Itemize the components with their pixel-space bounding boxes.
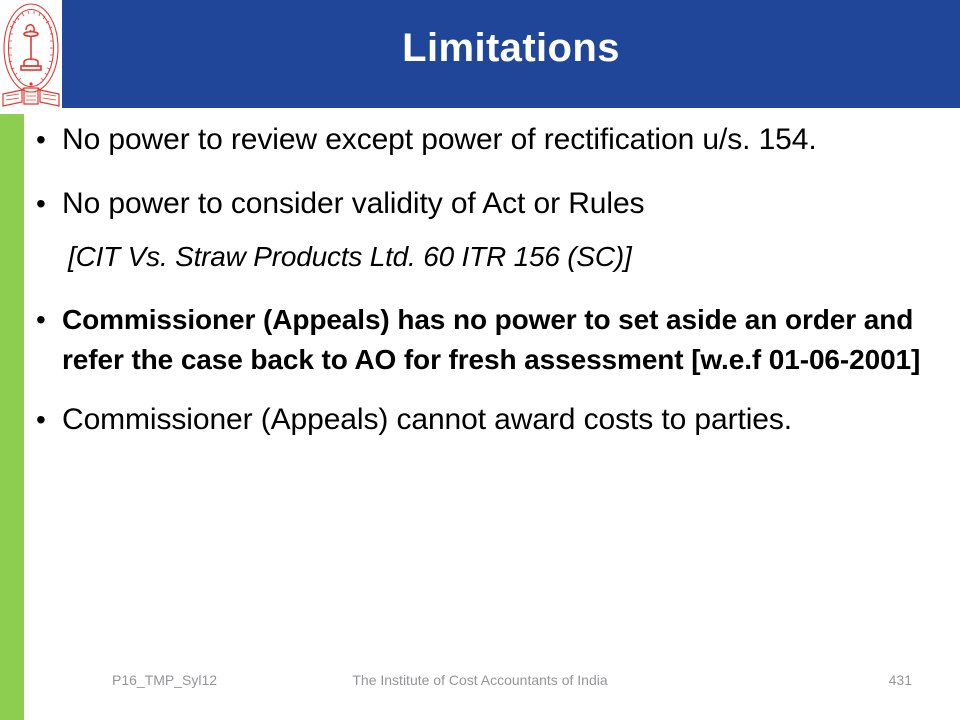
bullet-marker-icon: • <box>30 120 62 160</box>
bullet-text-4: Commissioner (Appeals) cannot award cost… <box>62 400 945 440</box>
left-accent-bar <box>0 114 24 720</box>
slide: Limitations <box>0 0 960 720</box>
slide-body: • No power to review except power of rec… <box>30 118 945 440</box>
bullet-text-3: Commissioner (Appeals) has no power to s… <box>62 300 945 380</box>
title-band: Limitations <box>62 0 960 108</box>
bullet-text-1: No power to review except power of recti… <box>62 120 945 160</box>
citation-text: [CIT Vs. Straw Products Ltd. 60 ITR 156 … <box>30 238 945 276</box>
bullet-text-2: No power to consider validity of Act or … <box>62 184 945 224</box>
page-title: Limitations <box>62 26 960 70</box>
slide-footer: P16_TMP_Syl12 The Institute of Cost Acco… <box>0 672 960 702</box>
footer-organization: The Institute of Cost Accountants of Ind… <box>0 672 960 688</box>
bullet-marker-icon: • <box>30 300 62 340</box>
bullet-marker-icon: • <box>30 400 62 440</box>
bullet-item: • Commissioner (Appeals) has no power to… <box>30 300 945 380</box>
bullet-marker-icon: • <box>30 184 62 224</box>
bullet-item: • No power to consider validity of Act o… <box>30 184 945 224</box>
logo <box>0 0 62 113</box>
footer-page-number: 431 <box>889 672 912 688</box>
bullet-item: • No power to review except power of rec… <box>30 120 945 160</box>
institute-logo-icon <box>0 0 62 113</box>
bullet-item: • Commissioner (Appeals) cannot award co… <box>30 400 945 440</box>
